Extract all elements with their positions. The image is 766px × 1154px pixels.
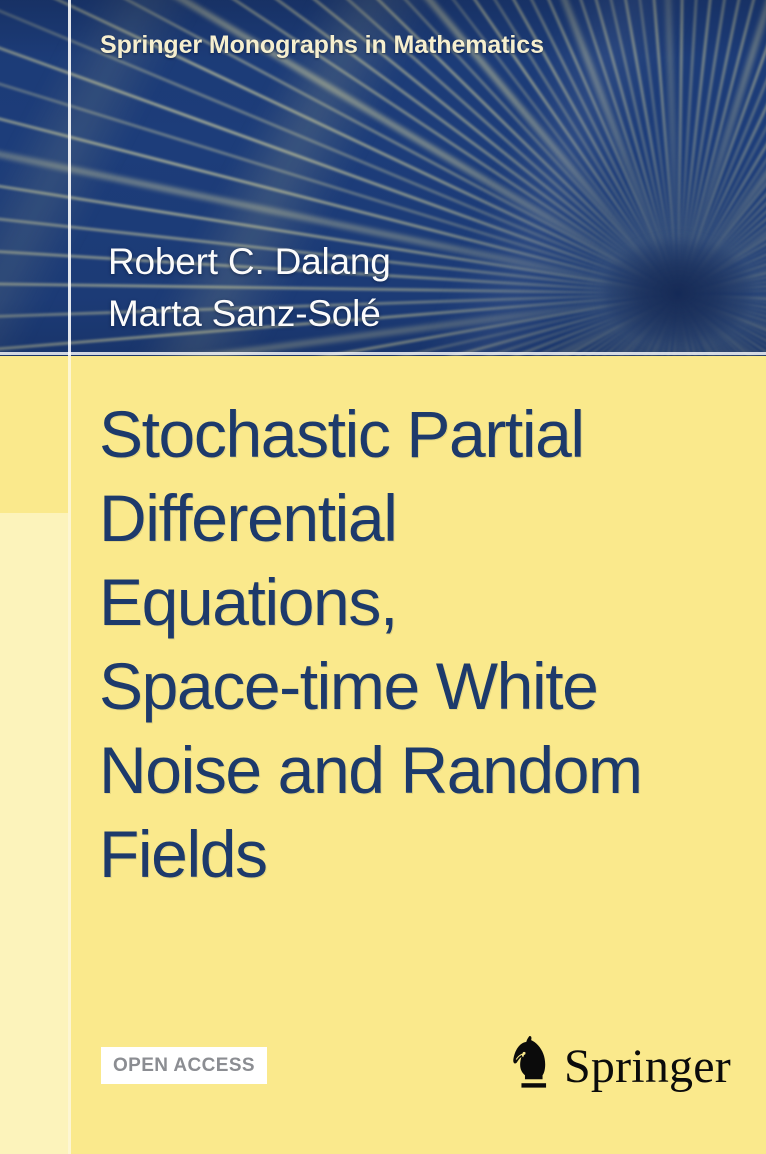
open-access-badge: OPEN ACCESS xyxy=(101,1047,267,1084)
title-line: Differential xyxy=(99,476,699,560)
series-title: Springer Monographs in Mathematics xyxy=(100,31,544,60)
sunburst-focal-point xyxy=(603,240,753,344)
book-cover: Springer Monographs in Mathematics Rober… xyxy=(0,0,766,1154)
title-line: Equations, xyxy=(99,560,699,644)
title-line: Stochastic Partial xyxy=(99,392,699,476)
page-title: Stochastic Partial Differential Equation… xyxy=(99,392,699,896)
band-horizontal-rule xyxy=(0,352,766,355)
spine-strip-lower xyxy=(0,513,68,1154)
author-name: Marta Sanz-Solé xyxy=(108,288,391,340)
author-name: Robert C. Dalang xyxy=(108,236,391,288)
publisher-logo: Springer xyxy=(510,1034,731,1092)
springer-wordmark: Springer xyxy=(564,1042,731,1092)
open-access-badge-label: OPEN ACCESS xyxy=(113,1055,255,1077)
author-list: Robert C. Dalang Marta Sanz-Solé xyxy=(108,236,391,340)
springer-knight-icon xyxy=(510,1034,554,1092)
spine-vertical-rule-top xyxy=(68,0,71,356)
title-line: Fields xyxy=(99,812,699,896)
spine-vertical-rule-bottom xyxy=(68,356,71,1154)
title-line: Noise and Random xyxy=(99,728,699,812)
spine-strip-upper xyxy=(0,356,68,513)
title-line: Space-time White xyxy=(99,644,699,728)
